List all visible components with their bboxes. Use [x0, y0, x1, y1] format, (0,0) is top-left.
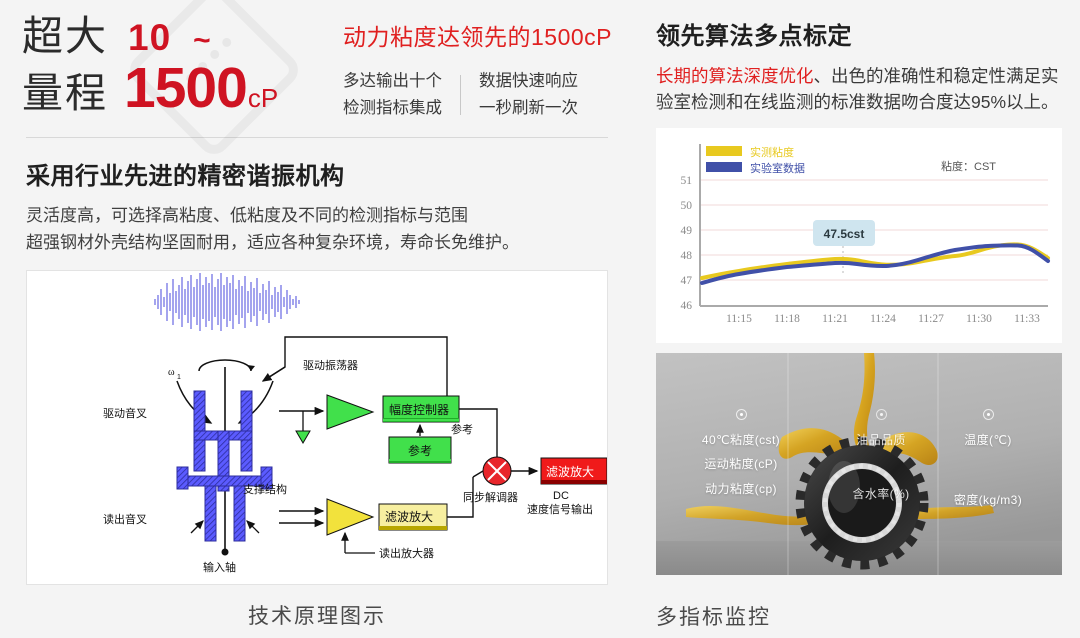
diagram-label-drive-oscillator: 驱动振荡器 [303, 358, 358, 372]
overlay-center-item-1: 含水率(%) [816, 482, 946, 507]
diagram-label-dc: DC [553, 490, 569, 502]
diagram-label-drive-fork: 驱动音叉 [103, 406, 147, 420]
hero-label-line2: 量程 [22, 71, 108, 117]
target-dot-icon-center [876, 409, 887, 420]
legend-swatch-measured [706, 146, 742, 156]
diagram-label-filter-amp-out: 滤波放大 [546, 464, 594, 479]
hero-sub1-line2: 检测指标集成 [343, 95, 442, 122]
diagram-label-readout-fork: 读出音叉 [103, 512, 147, 526]
svg-text:11:21: 11:21 [822, 313, 848, 325]
hero-range-block: 超大 10 ~ 量程 1500 cP [22, 14, 337, 117]
svg-text:49: 49 [681, 225, 693, 237]
left-panel: 超大 10 ~ 量程 1500 cP 动力粘度达领先的1500cP 多达输出十个… [0, 0, 634, 638]
diagram-label-reference-line: 参考 [451, 422, 473, 436]
technical-diagram-card: ω 1 [26, 270, 608, 585]
diagram-label-speed-output: 速度信号输出 [527, 502, 593, 516]
hero-sub2-line2: 一秒刷新一次 [479, 95, 578, 122]
svg-text:46: 46 [681, 300, 693, 312]
target-dot-icon-right [983, 409, 994, 420]
chart-series-lab [702, 245, 1048, 283]
diagram-label-omega-sub: 1 [177, 374, 181, 381]
legend-label-measured: 实测粘度 [750, 145, 794, 159]
diagram-label-filter-amp-bottom: 滤波放大 [385, 509, 433, 524]
hero-text-block: 动力粘度达领先的1500cP 多达输出十个 检测指标集成 数据快速响应 一秒刷新… [337, 14, 612, 121]
hero-sub-divider [460, 75, 461, 115]
photo-overlay-center: 油品品质 含水率(%) [816, 409, 946, 507]
waveform-icon [155, 273, 299, 331]
svg-text:11:33: 11:33 [1014, 313, 1040, 325]
header-divider [26, 137, 608, 138]
svg-text:11:18: 11:18 [774, 313, 800, 325]
hero-sub1-line1: 多达输出十个 [343, 68, 442, 95]
right-body-highlight: 长期的算法深度优化 [656, 66, 814, 86]
svg-text:51: 51 [681, 175, 693, 187]
left-caption: 技术原理图示 [22, 592, 612, 638]
svg-text:11:27: 11:27 [918, 313, 944, 325]
hero-sub2-line1: 数据快速响应 [479, 68, 578, 95]
legend-swatch-lab [706, 162, 742, 172]
hero-range-min: 10 [128, 17, 171, 59]
overlay-left-item-0: 40℃粘度(cst) [678, 428, 804, 453]
diagram-label-omega: ω [168, 367, 175, 378]
svg-text:50: 50 [681, 200, 693, 212]
chart-unit-note: 粘度：CST [941, 159, 996, 173]
svg-text:11:24: 11:24 [870, 313, 896, 325]
hero-sub-column-2: 数据快速响应 一秒刷新一次 [479, 68, 578, 121]
hero-sub-column-1: 多达输出十个 检测指标集成 [343, 68, 442, 121]
overlay-right-item-0: 温度(℃) [928, 428, 1048, 453]
hero-range-unit: cP [248, 83, 278, 114]
hero-range-max: 1500 [124, 60, 247, 117]
overlay-left-item-2: 动力粘度(cp) [678, 477, 804, 502]
target-dot-icon [736, 409, 747, 420]
hero-block: 超大 10 ~ 量程 1500 cP 动力粘度达领先的1500cP 多达输出十个… [22, 0, 612, 121]
svg-text:48: 48 [681, 250, 693, 262]
legend-label-lab: 实验室数据 [750, 161, 805, 175]
diagram-label-support-structure: 支撑结构 [243, 482, 287, 496]
chart-y-ticks: 51 50 49 48 47 46 [681, 175, 693, 312]
chart-x-ticks: 11:15 11:18 11:21 11:24 11:27 11:30 11:3… [726, 313, 1040, 325]
left-section-title: 采用行业先进的精密谐振机构 [26, 156, 612, 191]
svg-text:11:15: 11:15 [726, 313, 752, 325]
chart-tooltip-label: 47.5cst [824, 227, 865, 241]
svg-text:11:30: 11:30 [966, 313, 992, 325]
viscosity-chart-card: 实测粘度 实验室数据 粘度：CST 51 50 [656, 128, 1062, 343]
infographic-page: 超大 10 ~ 量程 1500 cP 动力粘度达领先的1500cP 多达输出十个… [0, 0, 1080, 638]
hero-label-line1: 超大 [22, 14, 108, 60]
hero-red-title: 动力粘度达领先的1500cP [343, 18, 612, 52]
hero-range-tilde: ~ [193, 24, 211, 58]
overlay-right-item-1: 密度(kg/m3) [928, 488, 1048, 513]
right-caption: 多指标监控 [656, 594, 1062, 638]
svg-text:47: 47 [681, 275, 693, 287]
viscosity-line-chart: 实测粘度 实验室数据 粘度：CST 51 50 [656, 128, 1062, 343]
diagram-label-readout-amplifier: 读出放大器 [379, 546, 434, 560]
diagram-label-amplitude-controller: 幅度控制器 [389, 402, 449, 417]
left-section-body-line1: 灵活度高，可选择高粘度、低粘度及不同的检测指标与范围 [26, 203, 612, 230]
left-section-body-line2: 超强钢材外壳结构坚固耐用，适应各种复杂环境，寿命长免维护。 [26, 230, 612, 257]
diagram-label-sync-demodulator: 同步解调器 [463, 490, 518, 504]
right-section-body: 长期的算法深度优化、出色的准确性和稳定性满足实验室检测和在线监测的标准数据吻合度… [656, 63, 1062, 116]
technical-diagram-svg: ω 1 [27, 271, 608, 584]
photo-overlay-right: 温度(℃) 密度(kg/m3) [928, 409, 1048, 513]
photo-overlay-left: 40℃粘度(cst) 运动粘度(cP) 动力粘度(cp) [678, 409, 804, 502]
multi-indicator-photo: 40℃粘度(cst) 运动粘度(cP) 动力粘度(cp) 油品品质 含水率(%)… [656, 353, 1062, 575]
diagram-label-input-shaft: 输入轴 [203, 560, 236, 574]
overlay-left-item-1: 运动粘度(cP) [678, 452, 804, 477]
right-section-title: 领先算法多点标定 [656, 0, 1062, 51]
overlay-center-item-0: 油品品质 [816, 428, 946, 453]
right-panel: 领先算法多点标定 长期的算法深度优化、出色的准确性和稳定性满足实验室检测和在线监… [634, 0, 1080, 638]
diagram-label-reference-box: 参考 [408, 443, 432, 458]
